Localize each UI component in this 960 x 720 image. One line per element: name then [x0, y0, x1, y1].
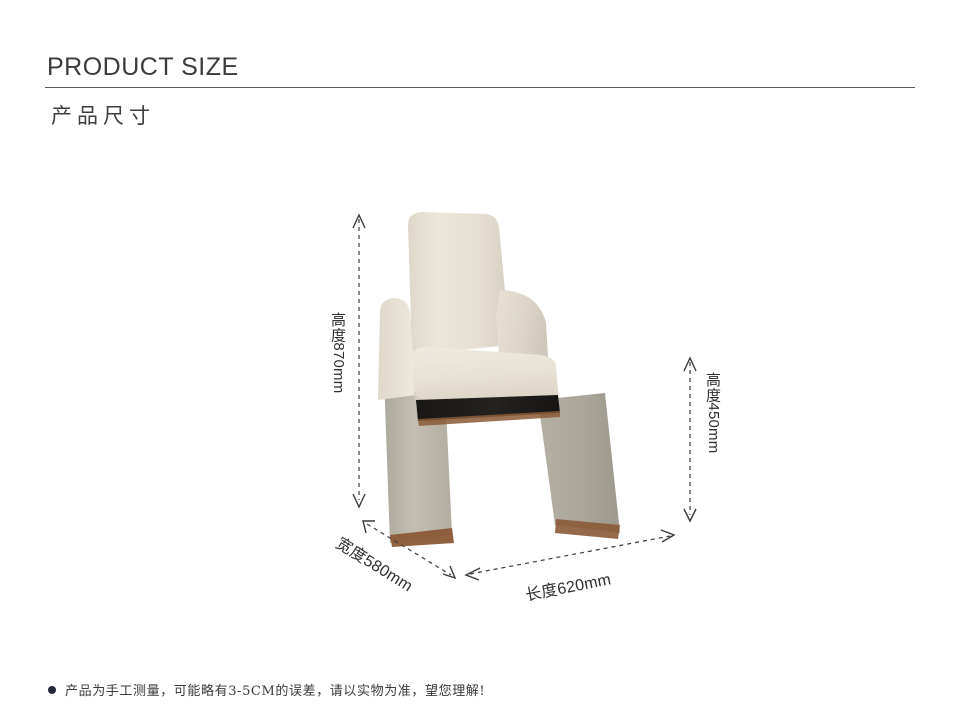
- dimension-label-length-620-cn: 长度: [524, 580, 559, 605]
- dimension-label-height-450-cn: 高度: [704, 372, 722, 402]
- dimension-label-height-870: 高度870mm: [328, 312, 349, 393]
- dimension-line-width-580: [367, 524, 451, 575]
- dimension-label-width-580-cn: 宽度: [333, 533, 371, 566]
- footer-note-text: 产品为手工测量，可能略有3-5CM的误差，请以实物为准，望您理解!: [65, 680, 485, 699]
- dimension-label-height-450-value: 450mm: [705, 402, 722, 453]
- dimension-label-width-580: 宽度580mm: [332, 530, 418, 596]
- bullet-icon: [48, 686, 56, 694]
- page-title: PRODUCT SIZE: [45, 52, 915, 87]
- page-subtitle: 产品尺寸: [45, 88, 915, 130]
- footer-note: 产品为手工测量，可能略有3-5CM的误差，请以实物为准，望您理解!: [48, 680, 485, 699]
- dimension-label-height-450: 高度450mm: [703, 372, 724, 453]
- dimension-line-length-620: [470, 536, 670, 574]
- dimension-label-height-870-value: 870mm: [330, 342, 347, 393]
- product-image-armchair: [350, 195, 690, 575]
- page-header: PRODUCT SIZE 产品尺寸: [45, 52, 915, 130]
- dimension-label-length-620: 长度620mm: [523, 565, 613, 605]
- dimension-label-height-870-cn: 高度: [329, 312, 347, 342]
- dimension-label-width-580-value: 580mm: [360, 552, 415, 595]
- dimension-label-length-620-value: 620mm: [556, 571, 613, 598]
